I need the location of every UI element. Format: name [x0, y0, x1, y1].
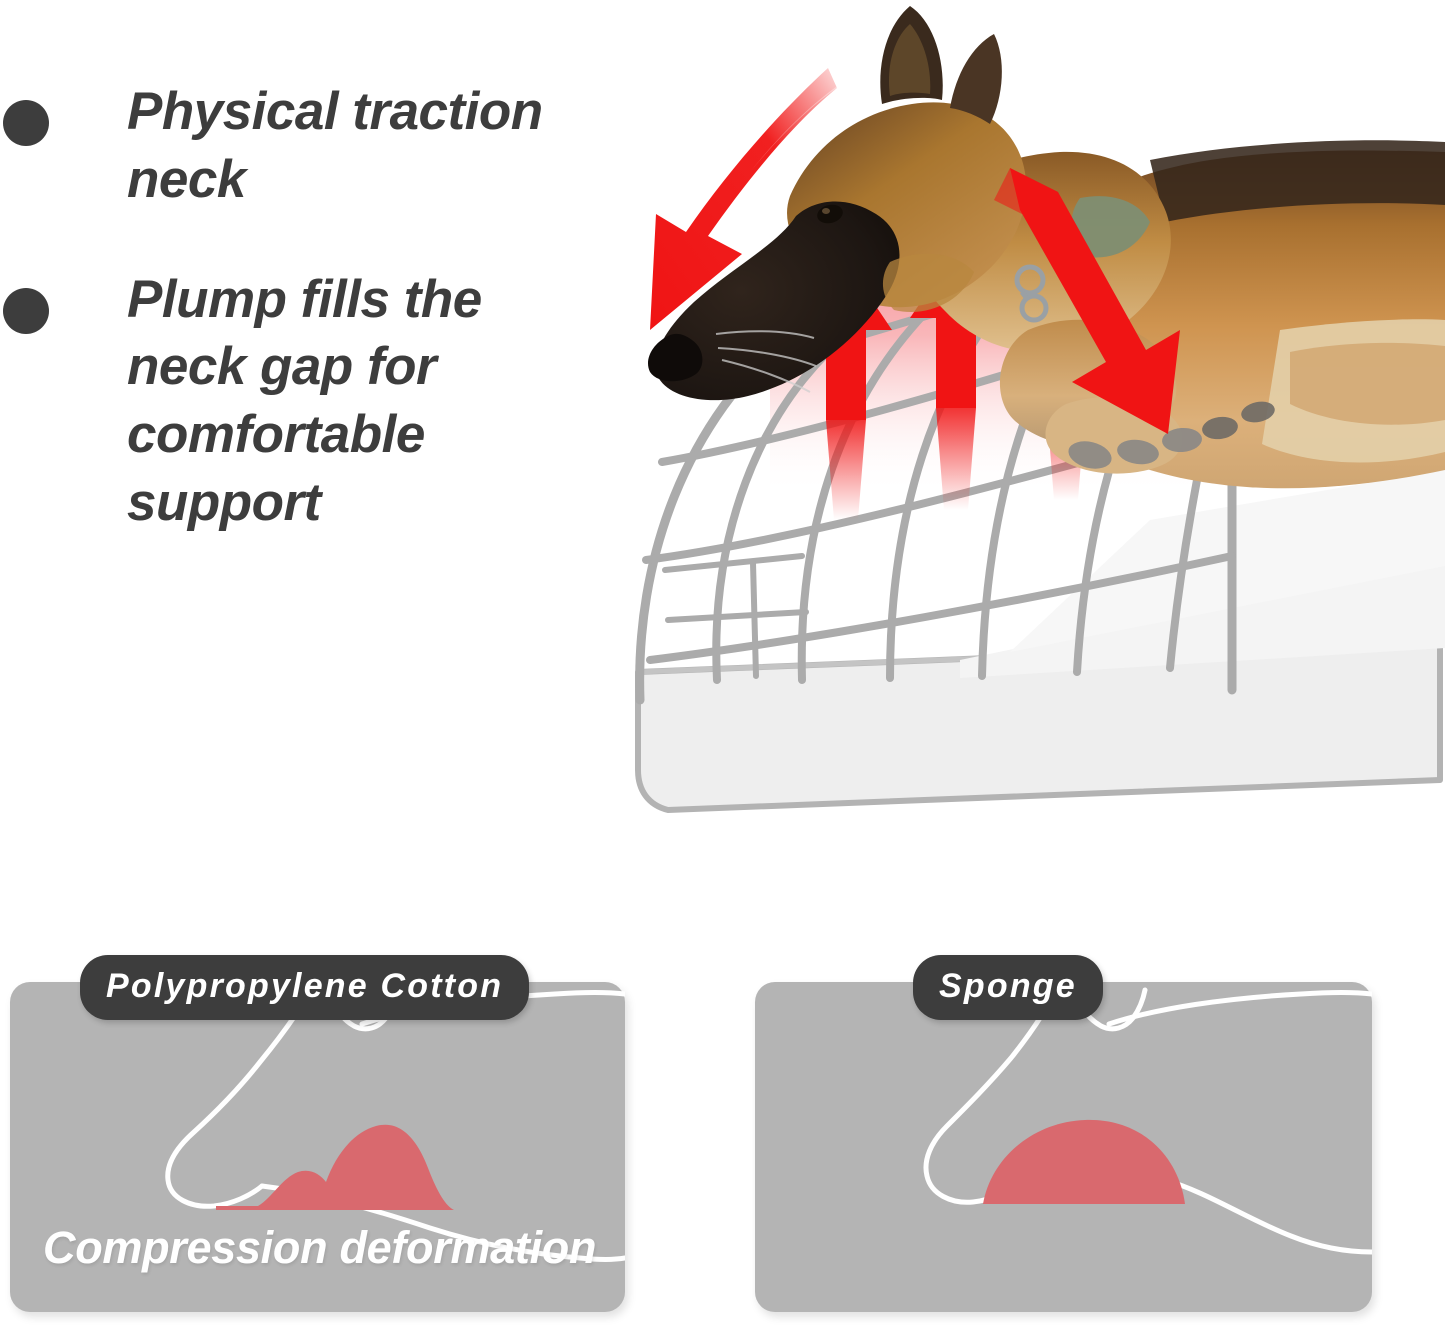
feature-text: Physical traction neck — [127, 78, 597, 214]
bullet-dot-icon — [3, 288, 49, 334]
comparison-panel-polypropylene: Compression deformation — [10, 982, 625, 1312]
bed-top-surface — [960, 470, 1445, 678]
feature-text: Plump fills the neck gap for comfortable… — [127, 266, 607, 537]
list-item: Plump fills the neck gap for comfortable… — [0, 266, 640, 537]
material-label-badge: Sponge — [913, 955, 1103, 1020]
material-label-badge: Polypropylene Cotton — [80, 955, 529, 1020]
infographic-canvas: Physical traction neck Plump fills the n… — [0, 0, 1445, 1331]
long-term-support-diagram — [755, 982, 1372, 1312]
panel-caption: Compression deformation — [43, 1222, 596, 1274]
dome-fill-shape — [983, 1120, 1185, 1204]
bullet-dot-icon — [3, 100, 49, 146]
feature-bullet-list: Physical traction neck Plump fills the n… — [0, 78, 640, 589]
material-comparison-section: Compression deformation Provide long-ter… — [0, 955, 1445, 1331]
comparison-panel-sponge: Provide long-term support — [755, 982, 1372, 1312]
dog-on-bed-illustration — [590, 0, 1445, 830]
list-item: Physical traction neck — [0, 78, 640, 214]
compressed-fill-shape — [216, 1125, 454, 1210]
